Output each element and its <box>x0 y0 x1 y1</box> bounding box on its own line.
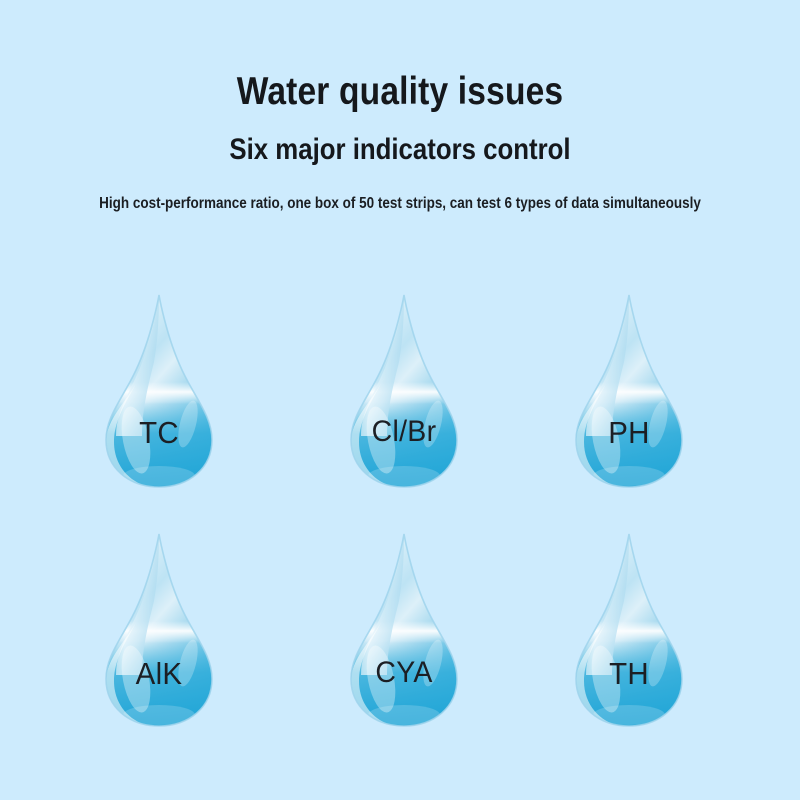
droplet-th: TH <box>566 529 692 729</box>
water-drop-icon <box>96 290 222 490</box>
water-drop-icon <box>341 290 467 490</box>
indicator-droplet-grid: TC <box>0 276 800 776</box>
water-drop-icon <box>96 529 222 729</box>
water-drop-icon <box>566 529 692 729</box>
droplet-cya: CYA <box>341 529 467 729</box>
droplet-ph: PH <box>566 290 692 490</box>
droplet-tc: TC <box>96 290 222 490</box>
poster-header: Water quality issues Six major indicator… <box>0 0 800 212</box>
water-quality-poster: Water quality issues Six major indicator… <box>0 0 800 800</box>
droplet-alk: AlK <box>96 529 222 729</box>
page-title: Water quality issues <box>56 0 744 113</box>
page-tagline: High cost-performance ratio, one box of … <box>52 165 748 212</box>
page-subtitle: Six major indicators control <box>56 113 744 166</box>
droplet-clbr: Cl/Br <box>341 290 467 490</box>
water-drop-icon <box>341 529 467 729</box>
water-drop-icon <box>566 290 692 490</box>
